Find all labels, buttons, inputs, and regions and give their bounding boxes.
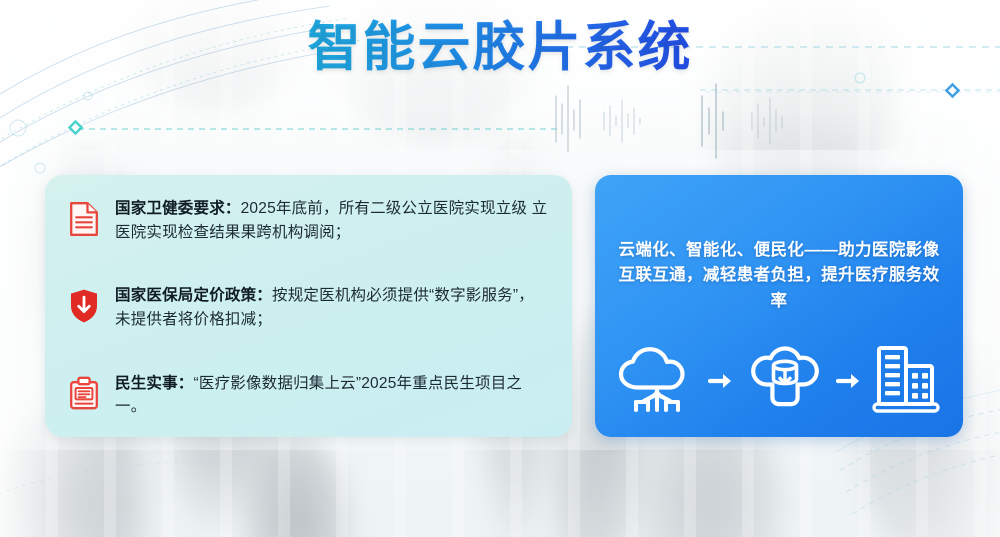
list-item-label: 民生实事： — [115, 375, 194, 392]
value-proposition-card: 云端化、智能化、便民化——助力医院影像 互联互通，减轻患者负担，提升医疗服务效率 — [595, 175, 963, 437]
value-proposition-headline: 云端化、智能化、便民化——助力医院影像 互联互通，减轻患者负担，提升医疗服务效率 — [611, 238, 947, 313]
headline-line-2: 互联互通，减轻患者负担，提升医疗服务效率 — [611, 263, 947, 313]
policy-card: 国家卫健委要求：2025年底前，所有二级公立医院实现立级 立医院实现检查结果果跨… — [45, 175, 572, 437]
list-item-label: 国家医保局定价政策： — [115, 287, 272, 304]
list-item: 民生实事：“医疗影像数据归集上云”2025年重点民生项目之一。 — [67, 372, 548, 419]
clipboard-icon — [67, 374, 101, 414]
arrow-right-icon — [836, 370, 862, 392]
list-item-text: 国家医保局定价政策：按规定医机构必须提供“数字影服务”，未提供者将价格扣减； — [115, 284, 548, 331]
headline-line-1: 云端化、智能化、便民化——助力医院影像 — [611, 238, 947, 263]
cloud-network-icon — [614, 344, 700, 418]
cloud-data-download-icon — [742, 344, 828, 418]
hospital-buildings-icon — [870, 344, 944, 418]
shield-down-arrow-icon — [67, 286, 101, 326]
list-item: 国家卫健委要求：2025年底前，所有二级公立医院实现立级 立医院实现检查结果果跨… — [67, 197, 548, 244]
arrow-right-icon — [708, 370, 734, 392]
list-item-text: 民生实事：“医疗影像数据归集上云”2025年重点民生项目之一。 — [115, 372, 548, 419]
list-item-label: 国家卫健委要求： — [115, 200, 241, 217]
page-title: 智能云胶片系统 — [0, 18, 1000, 77]
list-item-text: 国家卫健委要求：2025年底前，所有二级公立医院实现立级 立医院实现检查结果果跨… — [115, 197, 548, 244]
document-icon — [67, 199, 101, 239]
list-item: 国家医保局定价政策：按规定医机构必须提供“数字影服务”，未提供者将价格扣减； — [67, 284, 548, 331]
workflow-diagram — [611, 344, 947, 418]
